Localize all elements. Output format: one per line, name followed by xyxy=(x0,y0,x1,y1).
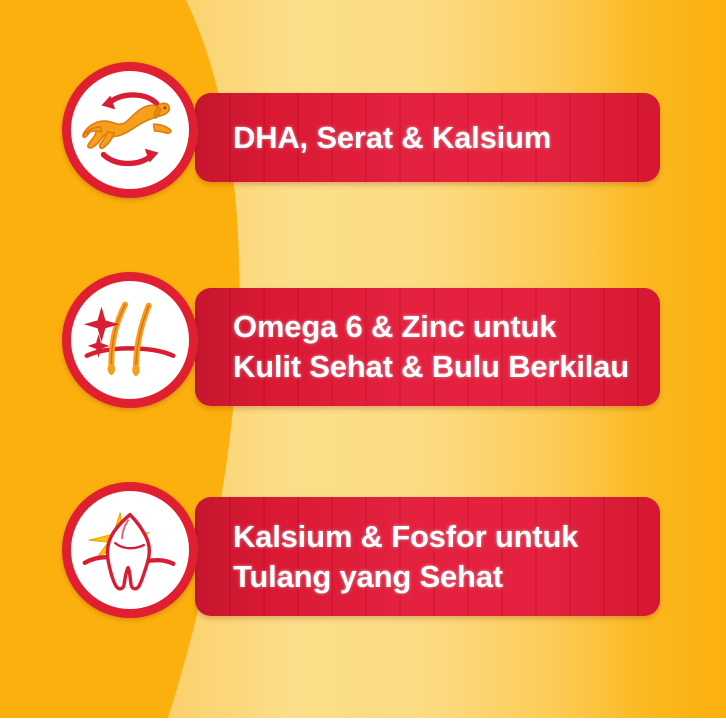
benefit-badge-2[interactable] xyxy=(62,272,198,408)
benefit-badge-1[interactable] xyxy=(62,62,198,198)
benefit-banner-3[interactable]: Kalsium & Fosfor untuk Tulang yang Sehat xyxy=(195,497,660,616)
tooth-sparkle-icon xyxy=(71,491,189,609)
benefit-banner-1[interactable]: DHA, Serat & Kalsium xyxy=(195,93,660,182)
benefit-row-2: Omega 6 & Zinc untuk Kulit Sehat & Bulu … xyxy=(0,272,726,412)
running-dog-icon xyxy=(71,71,189,189)
benefit-banner-2[interactable]: Omega 6 & Zinc untuk Kulit Sehat & Bulu … xyxy=(195,288,660,406)
benefits-poster: DHA, Serat & Kalsium xyxy=(0,0,726,726)
bottom-white-strip xyxy=(0,718,726,726)
benefit-badge-3[interactable] xyxy=(62,482,198,618)
benefit-row-3: Kalsium & Fosfor untuk Tulang yang Sehat xyxy=(0,482,726,622)
benefit-text-3: Kalsium & Fosfor untuk Tulang yang Sehat xyxy=(233,517,578,597)
benefit-text-2: Omega 6 & Zinc untuk Kulit Sehat & Bulu … xyxy=(233,307,629,387)
benefit-text-1: DHA, Serat & Kalsium xyxy=(233,118,551,158)
hair-follicle-shine-icon xyxy=(71,281,189,399)
benefit-row-1: DHA, Serat & Kalsium xyxy=(0,62,726,202)
